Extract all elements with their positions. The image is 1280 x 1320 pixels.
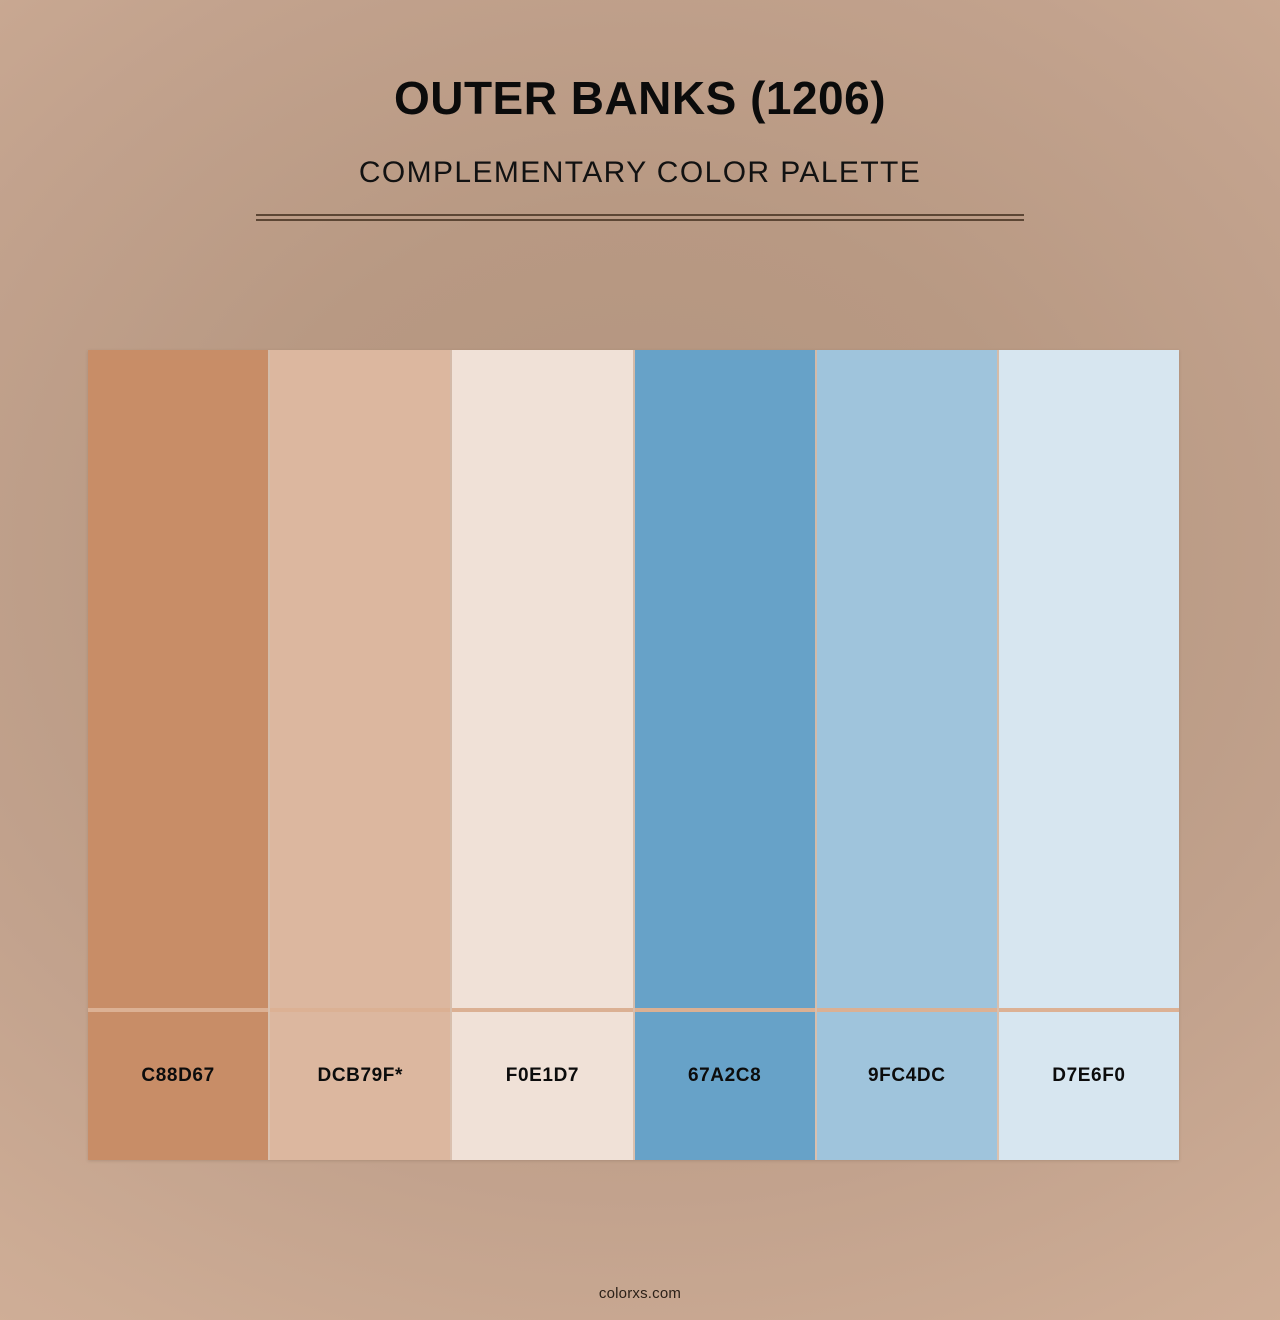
swatch-color-block[interactable]: [635, 350, 815, 1008]
swatch-column[interactable]: C88D67: [88, 350, 268, 1160]
page-footer: colorxs.com: [0, 1285, 1280, 1303]
site-credit: colorxs.com: [599, 1285, 681, 1302]
swatch-color-block[interactable]: [999, 350, 1179, 1008]
swatch-hex-label: D7E6F0: [1052, 1065, 1125, 1087]
swatch-color-block[interactable]: [817, 350, 997, 1008]
swatch-column[interactable]: DCB79F*: [268, 350, 450, 1160]
swatch-color-block[interactable]: [88, 350, 268, 1008]
swatch-label-area[interactable]: 9FC4DC: [817, 1012, 997, 1160]
page-subtitle: COMPLEMENTARY COLOR PALETTE: [0, 156, 1280, 189]
swatch-column[interactable]: D7E6F0: [997, 350, 1179, 1160]
color-palette: C88D67DCB79F*F0E1D767A2C89FC4DCD7E6F0: [88, 350, 1179, 1160]
swatch-column[interactable]: 9FC4DC: [815, 350, 997, 1160]
swatch-label-area[interactable]: F0E1D7: [452, 1012, 632, 1160]
swatch-hex-label: C88D67: [141, 1065, 214, 1087]
swatch-hex-label: DCB79F*: [318, 1065, 404, 1087]
swatch-hex-label: F0E1D7: [506, 1065, 579, 1087]
page-title: OUTER BANKS (1206): [0, 72, 1280, 125]
swatch-label-area[interactable]: D7E6F0: [999, 1012, 1179, 1160]
swatch-color-block[interactable]: [270, 350, 450, 1008]
swatch-hex-label: 67A2C8: [688, 1065, 761, 1087]
swatch-column[interactable]: F0E1D7: [450, 350, 632, 1160]
swatch-column[interactable]: 67A2C8: [633, 350, 815, 1160]
swatch-label-area[interactable]: DCB79F*: [270, 1012, 450, 1160]
swatch-color-block[interactable]: [452, 350, 632, 1008]
header-divider: [256, 214, 1024, 221]
page-header: OUTER BANKS (1206) COMPLEMENTARY COLOR P…: [0, 0, 1280, 221]
swatch-hex-label: 9FC4DC: [868, 1065, 946, 1087]
swatch-label-area[interactable]: 67A2C8: [635, 1012, 815, 1160]
swatch-label-area[interactable]: C88D67: [88, 1012, 268, 1160]
